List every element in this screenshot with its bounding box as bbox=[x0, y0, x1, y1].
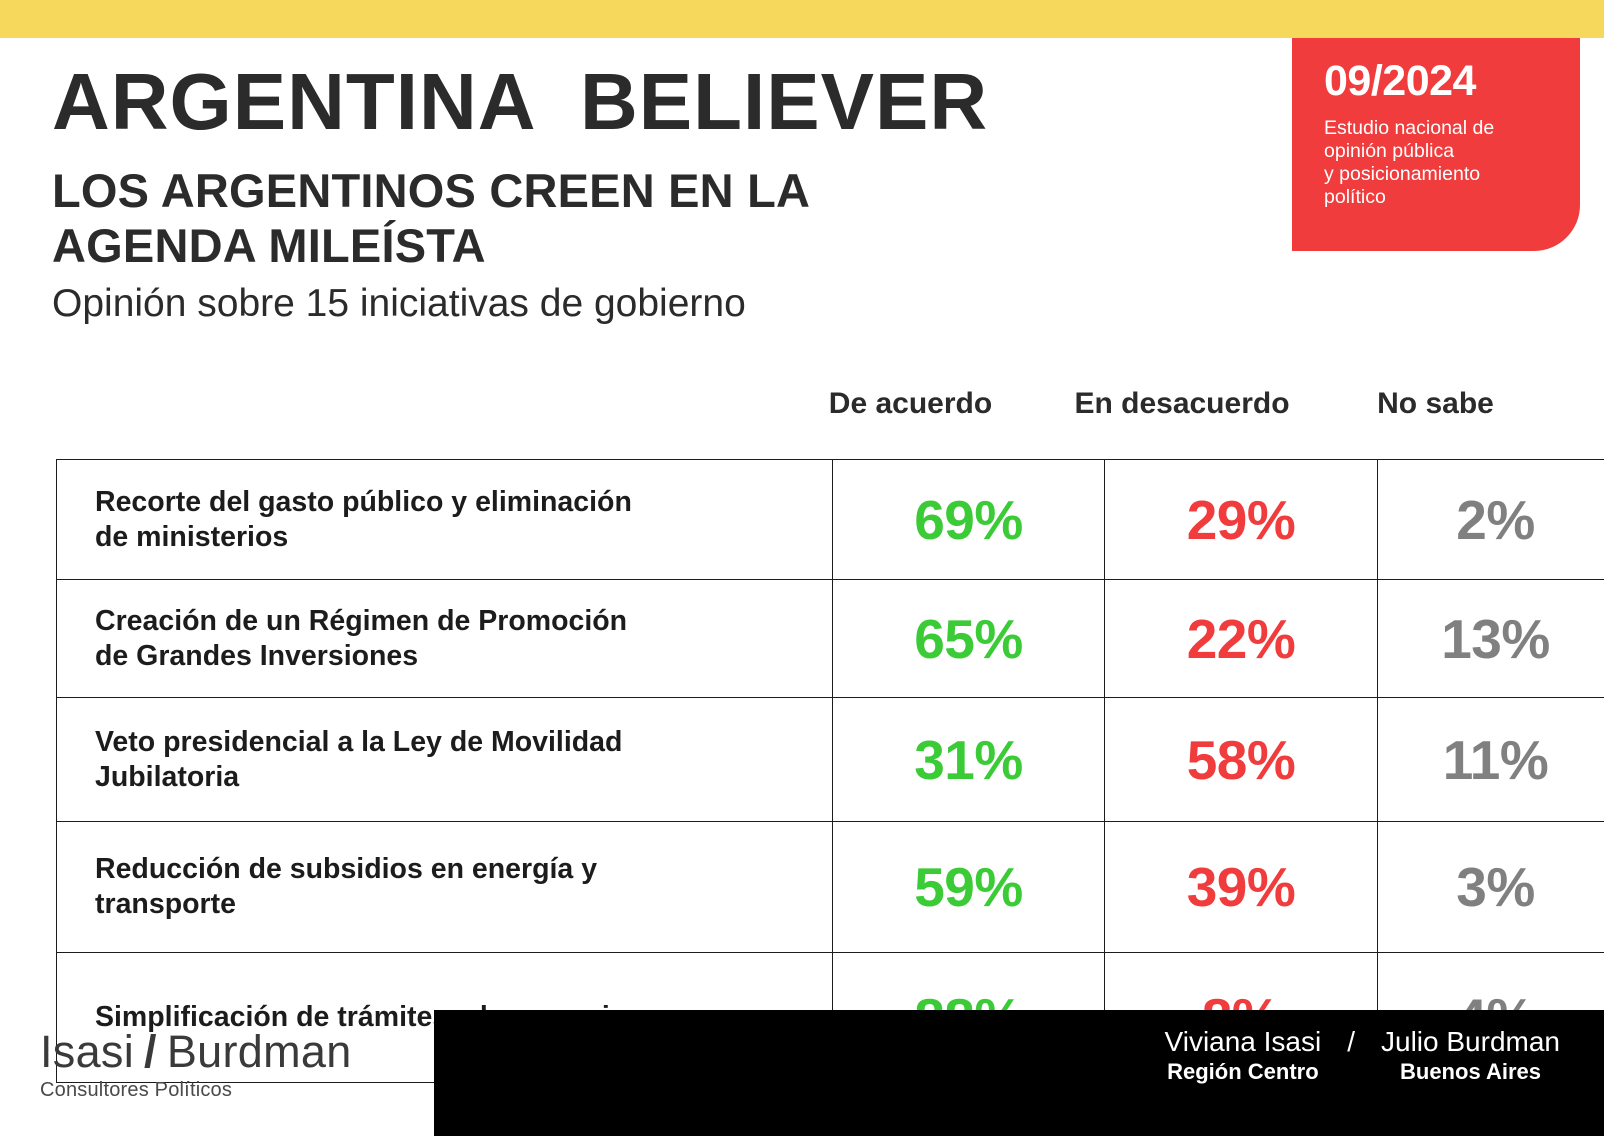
headline-block: ARGENTINA BELIEVER LOS ARGENTINOS CREEN … bbox=[52, 62, 1232, 326]
initiative-line-2: de Grandes Inversiones bbox=[95, 639, 814, 674]
initiative-line-2: de ministerios bbox=[95, 520, 814, 555]
author-region: Buenos Aires bbox=[1381, 1059, 1560, 1085]
value-disagree: 22% bbox=[1105, 580, 1378, 698]
table-row: Veto presidencial a la Ley de Movilidad … bbox=[57, 698, 1604, 822]
brand-name: Isasi/Burdman bbox=[40, 1028, 420, 1075]
initiative-label: Recorte del gasto público y eliminación … bbox=[57, 460, 833, 580]
initiative-line-2: Jubilatoria bbox=[95, 760, 814, 795]
table-column-headers: De acuerdo En desacuerdo No sabe bbox=[775, 387, 1553, 421]
author-name: Viviana Isasi bbox=[1165, 1026, 1322, 1057]
initiative-line-1: Reducción de subsidios en energía y bbox=[95, 852, 814, 887]
study-date: 09/2024 bbox=[1324, 60, 1550, 103]
brand-slash: / bbox=[144, 1026, 157, 1077]
initiative-label: Veto presidencial a la Ley de Movilidad … bbox=[57, 698, 833, 822]
author-entry: Viviana Isasi Región Centro bbox=[1165, 1026, 1322, 1086]
value-unknown: 11% bbox=[1378, 698, 1604, 822]
initiative-label: Reducción de subsidios en energía y tran… bbox=[57, 822, 833, 953]
initiative-label: Creación de un Régimen de Promoción de G… bbox=[57, 580, 833, 698]
initiative-line-1: Creación de un Régimen de Promoción bbox=[95, 604, 814, 639]
value-agree: 69% bbox=[833, 460, 1105, 580]
study-description: Estudio nacional de opinión pública y po… bbox=[1324, 117, 1550, 209]
value-agree: 59% bbox=[833, 822, 1105, 953]
results-table: Recorte del gasto público y eliminación … bbox=[56, 459, 1604, 1083]
page-title: ARGENTINA BELIEVER bbox=[52, 62, 1232, 142]
value-disagree: 39% bbox=[1105, 822, 1378, 953]
value-disagree: 29% bbox=[1105, 460, 1378, 580]
page-subtitle: LOS ARGENTINOS CREEN EN LA AGENDA MILEÍS… bbox=[52, 164, 1012, 273]
brand-name-second: Burdman bbox=[167, 1026, 352, 1077]
value-unknown: 13% bbox=[1378, 580, 1604, 698]
column-header-disagree: En desacuerdo bbox=[1046, 387, 1318, 421]
value-agree: 65% bbox=[833, 580, 1105, 698]
page-tagline: Opinión sobre 15 iniciativas de gobierno bbox=[52, 283, 1232, 326]
brand-name-first: Isasi bbox=[40, 1026, 134, 1077]
column-header-agree: De acuerdo bbox=[775, 387, 1046, 421]
value-agree: 31% bbox=[833, 698, 1105, 822]
brand-logo: Isasi/Burdman Consultores Políticos bbox=[40, 1028, 420, 1102]
column-header-unknown: No sabe bbox=[1318, 387, 1553, 421]
top-accent-band bbox=[0, 0, 1604, 38]
initiative-line-2: transporte bbox=[95, 887, 814, 922]
brand-subtitle: Consultores Políticos bbox=[40, 1079, 420, 1102]
value-unknown: 3% bbox=[1378, 822, 1604, 953]
table-row: Creación de un Régimen de Promoción de G… bbox=[57, 580, 1604, 698]
author-region: Región Centro bbox=[1165, 1059, 1322, 1085]
value-disagree: 58% bbox=[1105, 698, 1378, 822]
table-row: Reducción de subsidios en energía y tran… bbox=[57, 822, 1604, 953]
author-separator: / bbox=[1347, 1026, 1355, 1057]
author-name: Julio Burdman bbox=[1381, 1026, 1560, 1057]
initiative-line-1: Veto presidencial a la Ley de Movilidad bbox=[95, 725, 814, 760]
table-row: Recorte del gasto público y eliminación … bbox=[57, 460, 1604, 580]
study-badge: 09/2024 Estudio nacional de opinión públ… bbox=[1292, 38, 1580, 251]
value-unknown: 2% bbox=[1378, 460, 1604, 580]
authors-block: Viviana Isasi Región Centro / Julio Burd… bbox=[1165, 1026, 1560, 1086]
initiative-line-1: Recorte del gasto público y eliminación bbox=[95, 485, 814, 520]
author-entry: Julio Burdman Buenos Aires bbox=[1381, 1026, 1560, 1086]
